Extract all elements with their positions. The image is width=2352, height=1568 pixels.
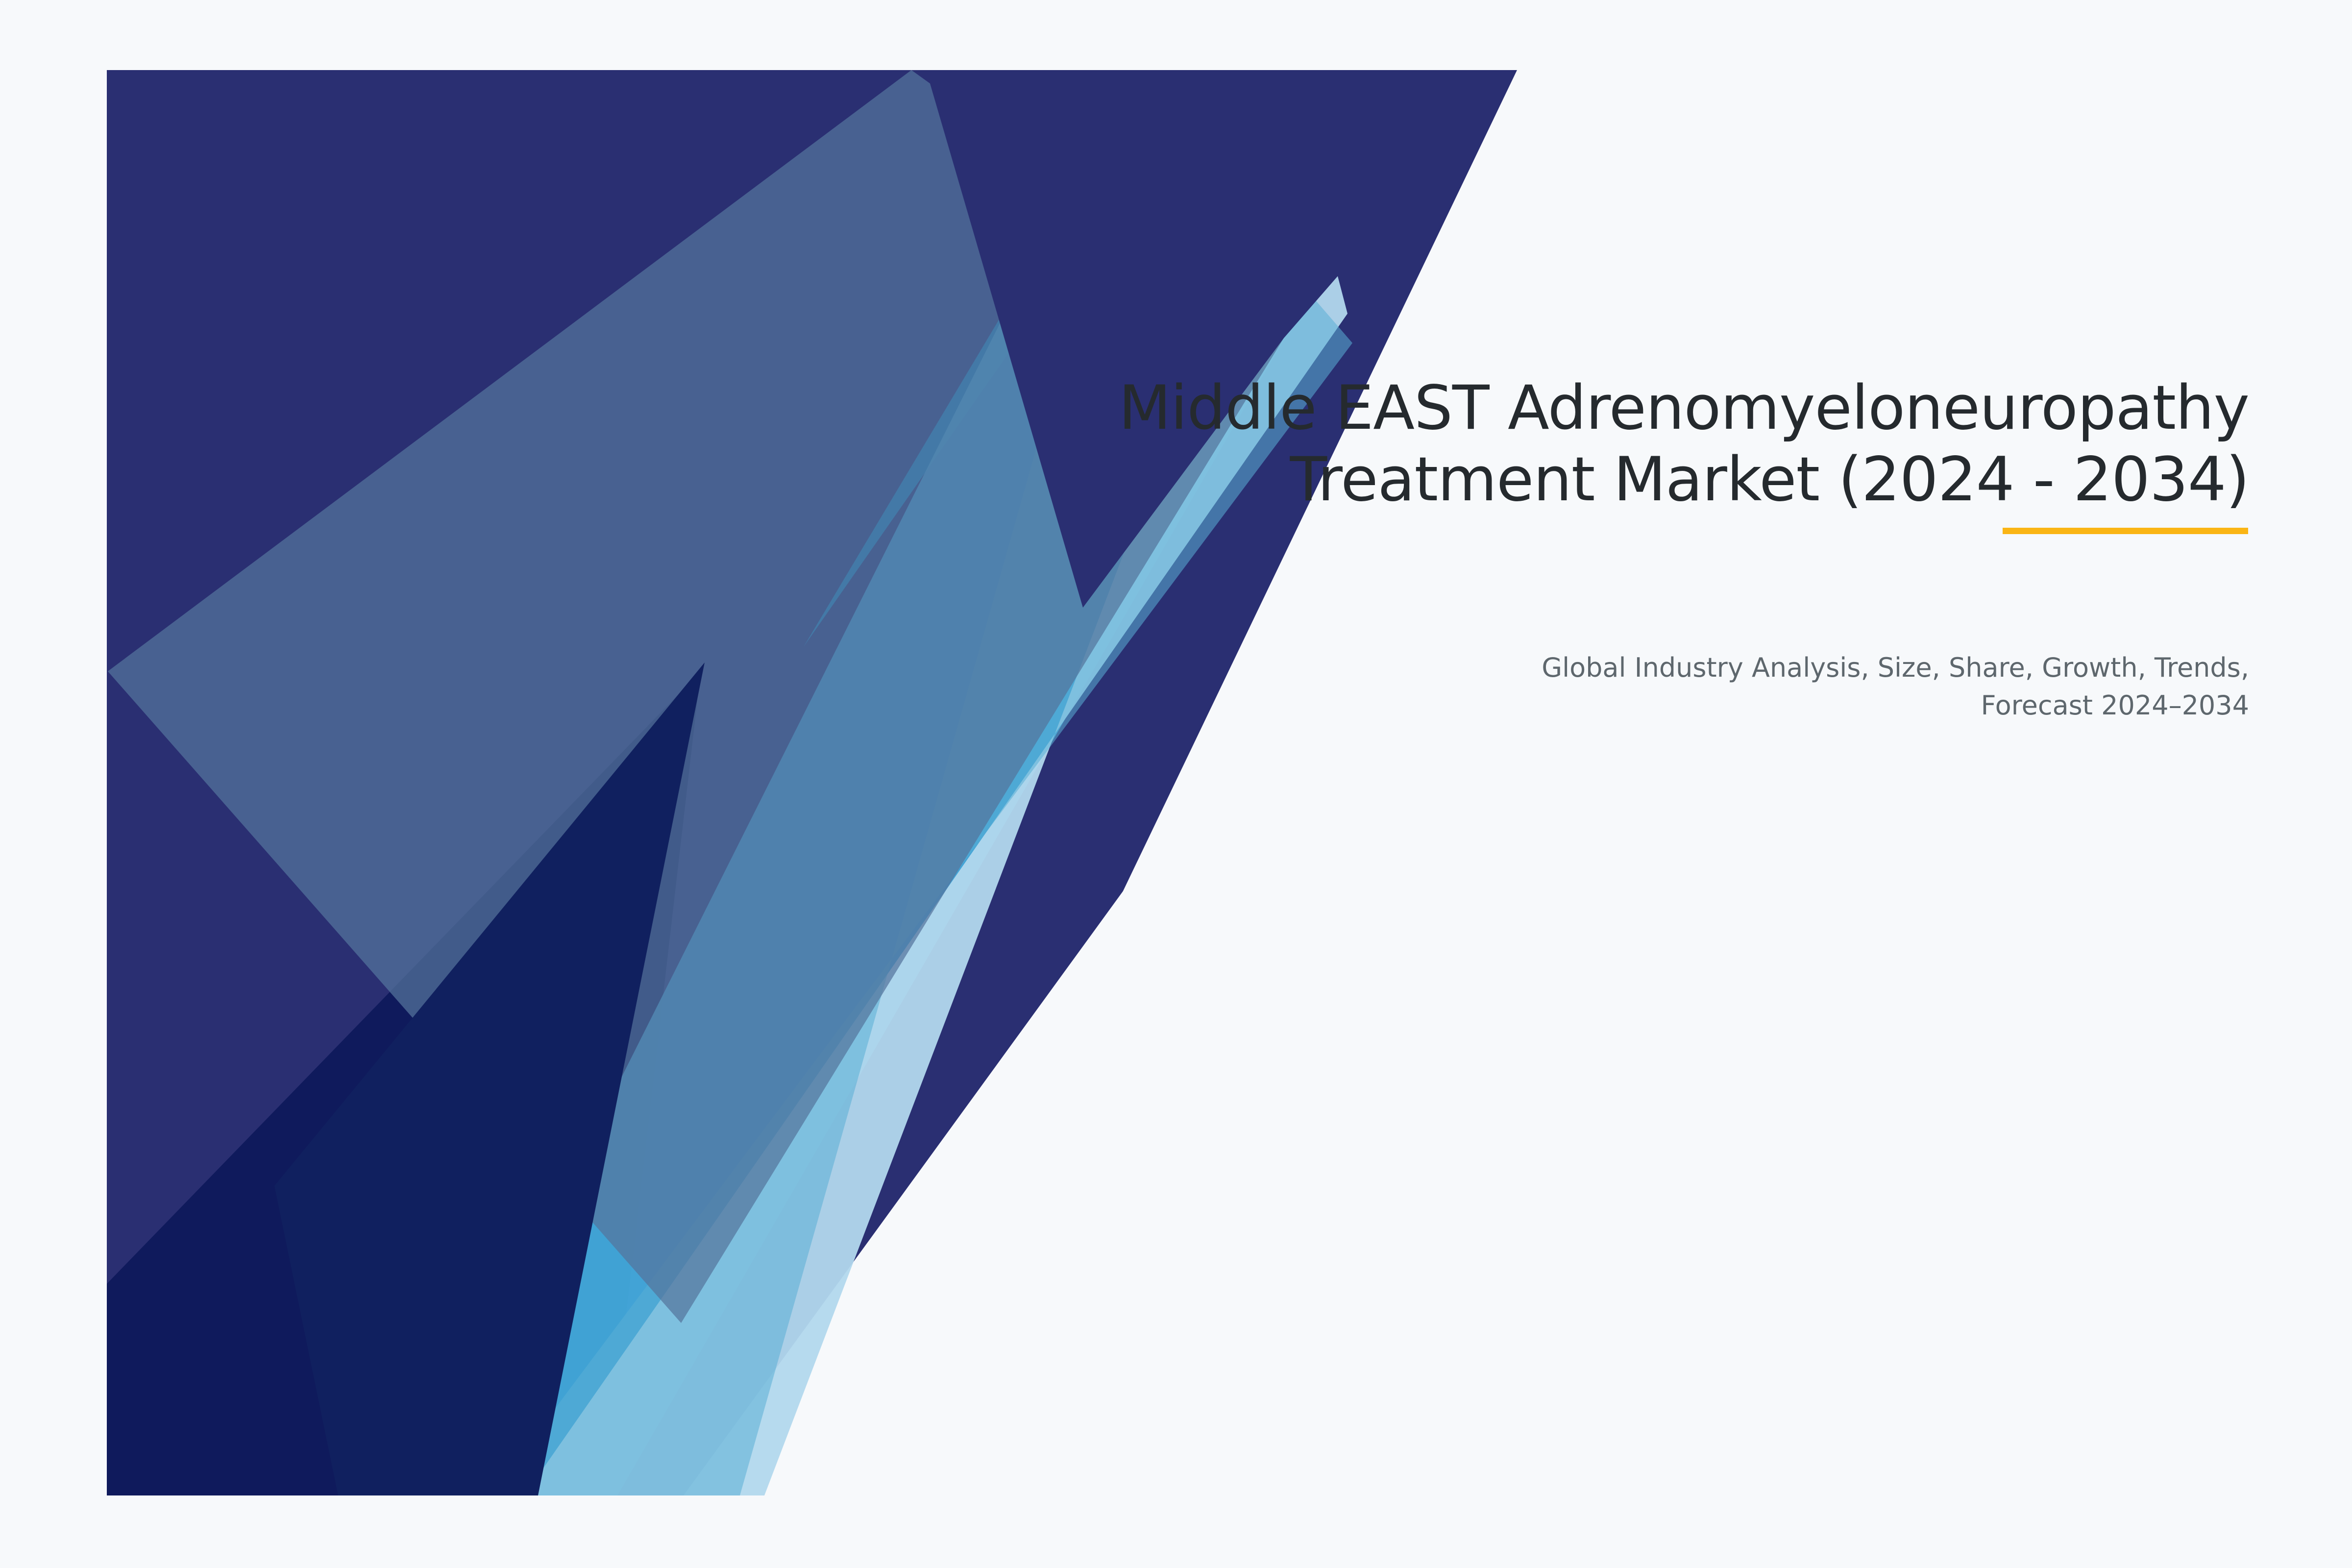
artwork-top-mask xyxy=(0,0,2352,70)
title-accent-rule xyxy=(2003,528,2248,534)
artwork-left-mask xyxy=(0,0,107,1568)
artwork-bottom-mask xyxy=(0,1495,2352,1568)
abstract-geometric-banner xyxy=(0,0,2352,1568)
page-title-line-2: Treatment Market (2024 - 2034) xyxy=(1290,444,2249,515)
page-title: Middle EAST Adrenomyeloneuropathy Treatm… xyxy=(735,372,2249,516)
page-title-line-1: Middle EAST Adrenomyeloneuropathy xyxy=(1119,373,2249,443)
page-subtitle: Global Industry Analysis, Size, Share, G… xyxy=(1519,649,2249,724)
report-cover: Middle EAST Adrenomyeloneuropathy Treatm… xyxy=(0,0,2352,1568)
cover-heading-block: Middle EAST Adrenomyeloneuropathy Treatm… xyxy=(735,372,2249,516)
